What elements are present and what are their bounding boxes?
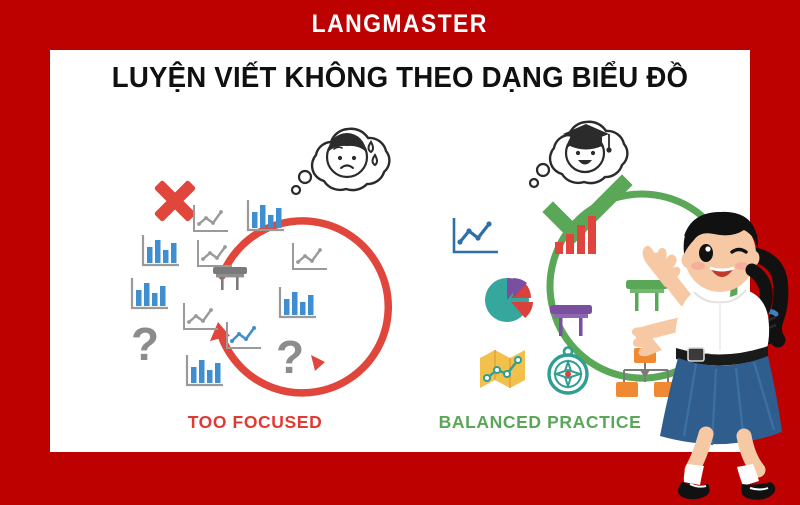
brand-bar: LANGMASTER [0, 0, 800, 48]
bar-chart-icon [143, 235, 179, 265]
line-chart-icon [227, 322, 261, 348]
brand-logo-text: LANGMASTER [312, 12, 488, 37]
line-chart-icon [454, 218, 498, 252]
thought-bubble-happy [530, 122, 627, 187]
bar-chart-icon [132, 278, 168, 308]
bar-chart-icon [280, 287, 316, 317]
line-chart-icon [194, 205, 228, 231]
line-chart-icon [184, 303, 218, 329]
page-title: LUYỆN VIẾT KHÔNG THEO DẠNG BIỂU ĐỒ [61, 62, 740, 95]
svg-text:?: ? [131, 318, 159, 370]
line-chart-icon [293, 243, 327, 269]
cross-icon [154, 180, 196, 222]
poster-stage: LANGMASTER LUYỆN VIẾT KHÔNG THEO DẠNG BI… [0, 0, 800, 500]
arm-raised [643, 246, 686, 300]
socks [684, 464, 759, 486]
left-group: ? ? [131, 129, 389, 393]
shoes [678, 482, 775, 500]
svg-text:?: ? [276, 331, 304, 383]
thought-bubble-sad [292, 129, 389, 194]
check-icon [553, 185, 622, 233]
map-icon [480, 350, 525, 388]
cheerful-schoolgirl [632, 196, 800, 500]
caption-too-focused: TOO FOCUSED [130, 412, 380, 433]
shirt [675, 290, 769, 354]
question-mark-icon: ? [276, 331, 304, 383]
table-icon [213, 267, 247, 290]
question-mark-icon: ? [131, 318, 159, 370]
pie-chart-icon [485, 278, 533, 322]
head [682, 212, 760, 292]
bar-chart-icon [187, 355, 223, 385]
skirt [660, 356, 782, 445]
